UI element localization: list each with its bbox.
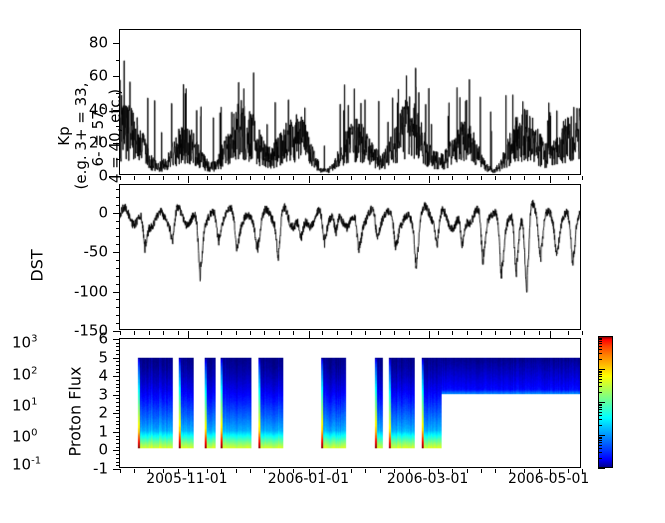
y-tick-minor xyxy=(116,369,120,370)
colorbar-tick-minor xyxy=(598,379,602,380)
x-tick-minor xyxy=(351,176,352,180)
colorbar-tick-minor xyxy=(598,374,602,375)
x-tick-minor xyxy=(134,331,135,335)
x-tick-major xyxy=(309,176,310,183)
y-tick-minor xyxy=(116,299,120,300)
y-tick-minor xyxy=(116,439,120,440)
y-tick-minor xyxy=(116,384,120,385)
x-tick-minor xyxy=(264,469,265,473)
x-tick-minor xyxy=(178,331,179,335)
y-tick-minor xyxy=(116,268,120,269)
x-axis-tick-label: 2006-03-01 xyxy=(387,472,468,486)
y-tick-minor xyxy=(116,276,120,277)
colorbar-tick-major xyxy=(598,468,605,469)
x-tick-minor xyxy=(524,331,525,335)
x-tick-minor xyxy=(149,176,150,180)
colorbar-tick-minor xyxy=(598,386,602,387)
colorbar-tick-minor xyxy=(598,392,602,393)
x-tick-minor xyxy=(438,331,439,335)
y-tick-major xyxy=(113,469,120,470)
x-tick-minor xyxy=(221,331,222,335)
x-tick-minor xyxy=(539,176,540,180)
y-tick-minor xyxy=(116,406,120,407)
y-tick-minor xyxy=(116,462,120,463)
x-tick-minor xyxy=(134,176,135,180)
colorbar-tick-minor xyxy=(598,346,602,347)
x-tick-minor xyxy=(207,176,208,180)
x-tick-minor xyxy=(452,176,453,180)
x-tick-minor xyxy=(394,176,395,180)
y-tick-minor xyxy=(116,387,120,388)
proton-flux-axis-title: Proton Flux xyxy=(67,332,84,492)
x-tick-minor xyxy=(120,469,121,473)
colorbar-tick-minor xyxy=(598,437,602,438)
dst-timeseries-plot xyxy=(120,185,580,329)
x-tick-minor xyxy=(524,176,525,180)
x-tick-minor xyxy=(322,331,323,335)
x-tick-minor xyxy=(250,331,251,335)
x-tick-minor xyxy=(568,176,569,180)
y-tick-major xyxy=(113,292,120,293)
x-tick-minor xyxy=(380,176,381,180)
x-tick-minor xyxy=(236,331,237,335)
x-tick-minor xyxy=(467,331,468,335)
colorbar-label-1e3: 103 xyxy=(12,332,37,351)
y-tick-minor xyxy=(116,447,120,448)
x-tick-minor xyxy=(279,331,280,335)
x-tick-minor xyxy=(510,176,511,180)
y-tick-minor xyxy=(116,421,120,422)
x-tick-major xyxy=(309,331,310,338)
x-tick-minor xyxy=(221,176,222,180)
colorbar-tick-minor xyxy=(598,359,602,360)
y-tick-major xyxy=(113,432,120,433)
dst-panel: 0-50-100-150 xyxy=(119,184,581,330)
x-tick-minor xyxy=(409,176,410,180)
x-tick-minor xyxy=(264,176,265,180)
x-tick-minor xyxy=(250,176,251,180)
x-tick-minor xyxy=(481,331,482,335)
colorbar-tick-minor xyxy=(598,339,602,340)
x-tick-minor xyxy=(178,176,179,180)
x-tick-minor xyxy=(293,331,294,335)
kp-panel: 020406080 xyxy=(119,29,581,175)
y-tick-major xyxy=(113,252,120,253)
y-tick-minor xyxy=(116,221,120,222)
x-tick-major xyxy=(429,176,430,183)
colorbar-tick-minor xyxy=(598,371,602,372)
y-tick-minor xyxy=(116,410,120,411)
x-tick-minor xyxy=(365,331,366,335)
y-tick-minor xyxy=(116,346,120,347)
x-tick-minor xyxy=(495,331,496,335)
x-tick-minor xyxy=(163,331,164,335)
colorbar-tick-minor xyxy=(598,425,602,426)
x-tick-minor xyxy=(452,331,453,335)
x-tick-minor xyxy=(365,469,366,473)
x-tick-minor xyxy=(380,469,381,473)
y-tick-minor xyxy=(116,228,120,229)
y-tick-major xyxy=(113,376,120,377)
y-tick-major xyxy=(113,413,120,414)
x-tick-minor xyxy=(236,469,237,473)
y-tick-minor xyxy=(116,197,120,198)
x-tick-minor xyxy=(279,176,280,180)
colorbar-tick-minor xyxy=(598,338,602,339)
y-tick-minor xyxy=(116,323,120,324)
y-tick-minor xyxy=(116,436,120,437)
x-tick-minor xyxy=(236,176,237,180)
x-axis-tick-label: 2005-11-01 xyxy=(146,472,227,486)
y-tick-major xyxy=(113,339,120,340)
x-tick-minor xyxy=(539,331,540,335)
x-tick-major xyxy=(429,331,430,338)
colorbar-tick-minor xyxy=(598,382,602,383)
x-tick-minor xyxy=(582,331,583,335)
colorbar-tick-minor xyxy=(598,412,602,413)
colorbar-tick-minor xyxy=(598,409,602,410)
x-tick-minor xyxy=(264,331,265,335)
x-tick-minor xyxy=(134,469,135,473)
x-tick-minor xyxy=(322,176,323,180)
proton-flux-panel: -10123456 xyxy=(119,338,581,468)
colorbar-tick-minor xyxy=(598,458,602,459)
colorbar-tick-minor xyxy=(598,343,602,344)
y-tick-minor xyxy=(116,315,120,316)
y-tick-major xyxy=(113,450,120,451)
y-tick-minor xyxy=(116,284,120,285)
x-tick-minor xyxy=(380,331,381,335)
x-tick-minor xyxy=(409,331,410,335)
y-tick-major xyxy=(113,331,120,332)
x-tick-minor xyxy=(582,176,583,180)
colorbar-tick-minor xyxy=(598,415,602,416)
colorbar-tick-minor xyxy=(598,404,602,405)
x-tick-minor xyxy=(438,176,439,180)
x-tick-minor xyxy=(250,469,251,473)
colorbar-tick-minor xyxy=(598,353,602,354)
x-tick-minor xyxy=(163,176,164,180)
colorbar-tick-minor xyxy=(598,419,602,420)
x-tick-minor xyxy=(495,176,496,180)
x-axis-tick-label: 2006-05-01 xyxy=(508,472,589,486)
colorbar-tick-minor xyxy=(598,372,602,373)
colorbar-label-1e2: 102 xyxy=(12,364,37,383)
x-tick-major xyxy=(188,176,189,183)
x-tick-minor xyxy=(337,331,338,335)
colorbar-tick-minor xyxy=(598,438,602,439)
y-tick-minor xyxy=(116,260,120,261)
x-tick-minor xyxy=(207,331,208,335)
x-tick-minor xyxy=(365,176,366,180)
colorbar-tick-minor xyxy=(598,445,602,446)
colorbar-tick-minor xyxy=(598,349,602,350)
y-tick-minor xyxy=(116,380,120,381)
x-tick-major xyxy=(550,176,551,183)
y-tick-major xyxy=(113,395,120,396)
x-tick-minor xyxy=(120,331,121,335)
x-tick-major xyxy=(188,331,189,338)
colorbar-label-1e1: 101 xyxy=(12,395,37,414)
y-tick-minor xyxy=(116,307,120,308)
y-tick-minor xyxy=(116,236,120,237)
y-tick-minor xyxy=(116,402,120,403)
y-tick-minor xyxy=(116,354,120,355)
y-tick-major xyxy=(113,358,120,359)
y-tick-minor xyxy=(116,443,120,444)
y-tick-minor xyxy=(116,391,120,392)
x-tick-minor xyxy=(495,469,496,473)
x-tick-minor xyxy=(481,469,482,473)
y-tick-minor xyxy=(116,458,120,459)
y-tick-minor xyxy=(116,343,120,344)
colorbar-label-1e0: 100 xyxy=(12,426,37,445)
colorbar-tick-minor xyxy=(598,376,602,377)
y-tick-minor xyxy=(116,189,120,190)
x-tick-minor xyxy=(351,469,352,473)
x-tick-minor xyxy=(149,331,150,335)
x-tick-minor xyxy=(510,331,511,335)
x-tick-minor xyxy=(351,331,352,335)
x-axis-tick-label: 2006-01-01 xyxy=(268,472,349,486)
x-tick-minor xyxy=(568,331,569,335)
y-tick-minor xyxy=(116,465,120,466)
colorbar-label-1em1: 10-1 xyxy=(12,454,41,473)
x-tick-major xyxy=(550,331,551,338)
x-tick-minor xyxy=(467,176,468,180)
x-tick-minor xyxy=(337,176,338,180)
y-tick-minor xyxy=(116,417,120,418)
y-tick-minor xyxy=(116,372,120,373)
y-tick-minor xyxy=(116,454,120,455)
colorbar-tick-minor xyxy=(598,452,602,453)
y-tick-minor xyxy=(116,398,120,399)
dst-axis-title: DST xyxy=(29,196,46,336)
space-weather-figure: 020406080 Kp (e.g. 3+ = 33, 6- = 57, 4 =… xyxy=(0,0,665,523)
y-tick-minor xyxy=(116,428,120,429)
colorbar-tick-minor xyxy=(598,407,602,408)
y-tick-minor xyxy=(116,424,120,425)
y-tick-minor xyxy=(116,205,120,206)
y-tick-minor xyxy=(116,244,120,245)
y-tick-minor xyxy=(116,361,120,362)
x-tick-minor xyxy=(394,331,395,335)
x-tick-minor xyxy=(481,176,482,180)
colorbar-tick-minor xyxy=(598,341,602,342)
colorbar-tick-minor xyxy=(598,405,602,406)
colorbar-tick-minor xyxy=(598,442,602,443)
x-tick-minor xyxy=(293,176,294,180)
colorbar-tick-minor xyxy=(598,440,602,441)
kp-timeseries-plot xyxy=(120,30,580,174)
proton-flux-spectrogram xyxy=(120,339,580,467)
y-tick-major xyxy=(113,213,120,214)
colorbar-tick-minor xyxy=(598,448,602,449)
y-tick-minor xyxy=(116,365,120,366)
y-tick-minor xyxy=(116,350,120,351)
